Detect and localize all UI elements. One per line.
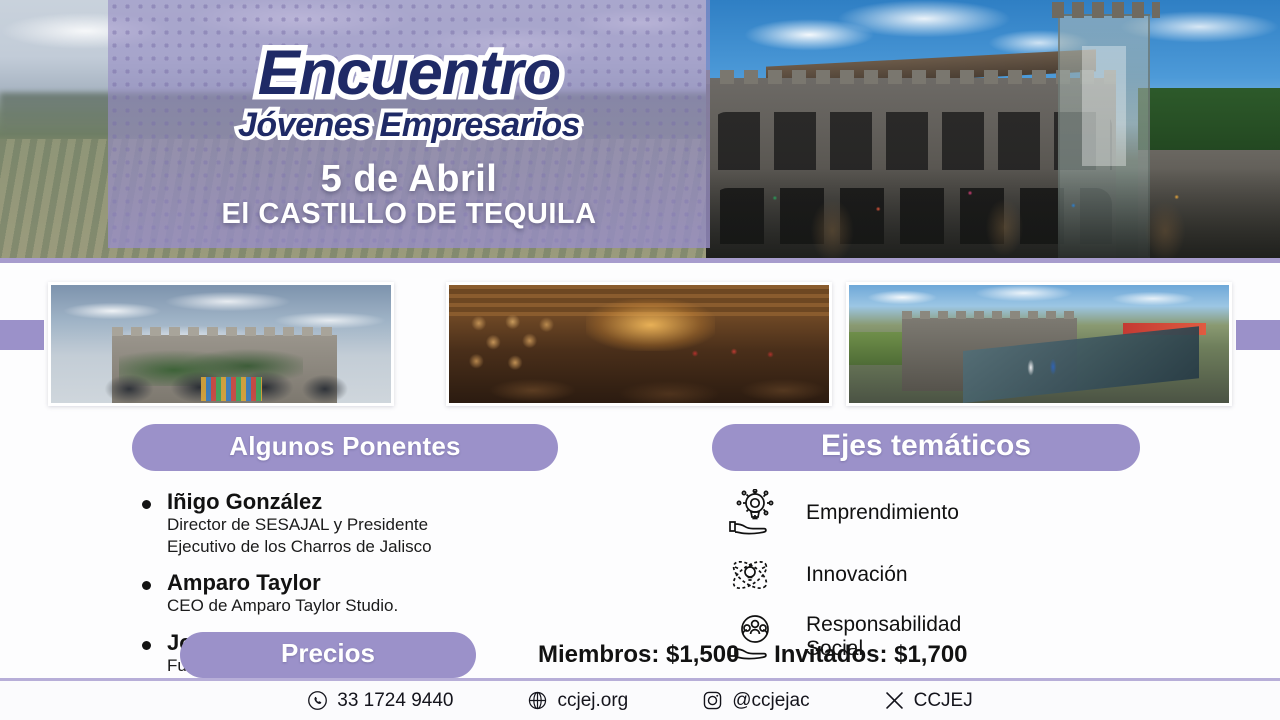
theme-label: Innovación — [806, 563, 908, 587]
bullet-icon — [142, 500, 151, 509]
instagram-handle: @ccjejac — [732, 690, 809, 712]
bullet-icon — [142, 581, 151, 590]
list-item: Iñigo González Director de SESAJAL y Pre… — [132, 489, 602, 557]
photo-castle-facade-barrels — [48, 282, 394, 406]
phone-number: 33 1724 9440 — [337, 690, 453, 712]
speaker-role-line: Director de SESAJAL y Presidente — [167, 515, 432, 535]
hero-right-photo-castle — [706, 0, 1280, 258]
website-url: ccjej.org — [557, 690, 628, 712]
speaker-role-line: CEO de Amparo Taylor Studio. — [167, 596, 398, 616]
hero-purple-panel: Encuentro Jóvenes Empresarios 5 de Abril… — [108, 0, 710, 248]
hand-lightbulb-gear-icon — [712, 487, 788, 539]
contact-footer: 33 1724 9440 ccjej.org @c — [0, 681, 1280, 720]
event-subtitle: Jóvenes Empresarios — [238, 107, 580, 144]
prices-section: Precios Miembros: $1,500 Invitados: $1,7… — [180, 632, 1180, 678]
price-guests: Invitados: $1,700 — [774, 641, 967, 668]
contact-website[interactable]: ccjej.org — [527, 690, 628, 712]
speaker-name: Amparo Taylor — [167, 570, 398, 595]
prices-values: Miembros: $1,500 Invitados: $1,700 — [538, 641, 996, 669]
contact-x[interactable]: CCJEJ — [884, 690, 973, 712]
hero-banner: Encuentro Jóvenes Empresarios 5 de Abril… — [0, 0, 1280, 258]
list-item: Amparo Taylor CEO de Amparo Taylor Studi… — [132, 570, 602, 617]
contact-instagram[interactable]: @ccjejac — [702, 690, 809, 712]
hero-title-block: Encuentro Jóvenes Empresarios — [108, 42, 710, 144]
event-poster: Encuentro Jóvenes Empresarios 5 de Abril… — [0, 0, 1280, 720]
photo1-colored-letters — [201, 377, 262, 401]
x-twitter-icon — [884, 690, 905, 711]
castle-battlement — [706, 70, 1116, 84]
photo-strip — [0, 282, 1280, 406]
themes-heading: Ejes temáticos — [712, 424, 1140, 471]
photo-barrel-cellar-interior — [446, 282, 832, 406]
bullet-icon — [142, 641, 151, 650]
price-members: Miembros: $1,500 — [538, 641, 739, 668]
photo2-red-accents — [669, 344, 798, 363]
x-handle: CCJEJ — [914, 690, 973, 712]
photo-castle-grounds-walkway — [846, 282, 1232, 406]
globe-icon — [527, 690, 548, 711]
whatsapp-icon — [307, 690, 328, 711]
castle-decor-lights — [706, 178, 1280, 228]
speakers-heading: Algunos Ponentes — [132, 424, 558, 471]
list-item: Innovación — [712, 549, 1182, 601]
instagram-icon — [702, 690, 723, 711]
event-title: Encuentro — [258, 42, 561, 105]
castle-arches-upper — [712, 112, 1112, 170]
speaker-name: Iñigo González — [167, 489, 432, 514]
list-item: Emprendimiento — [712, 487, 1182, 539]
atom-lightbulb-icon — [712, 549, 788, 601]
photo3-people — [1016, 346, 1069, 381]
photo2-tables — [449, 361, 829, 403]
prices-heading: Precios — [180, 632, 476, 678]
event-venue: El CASTILLO DE TEQUILA — [108, 198, 710, 231]
speaker-role-line: Ejecutivo de los Charros de Jalisco — [167, 537, 432, 557]
theme-label: Emprendimiento — [806, 501, 959, 525]
event-date: 5 de Abril — [108, 158, 710, 201]
hero-divider — [0, 258, 1280, 263]
contact-phone[interactable]: 33 1724 9440 — [307, 690, 453, 712]
